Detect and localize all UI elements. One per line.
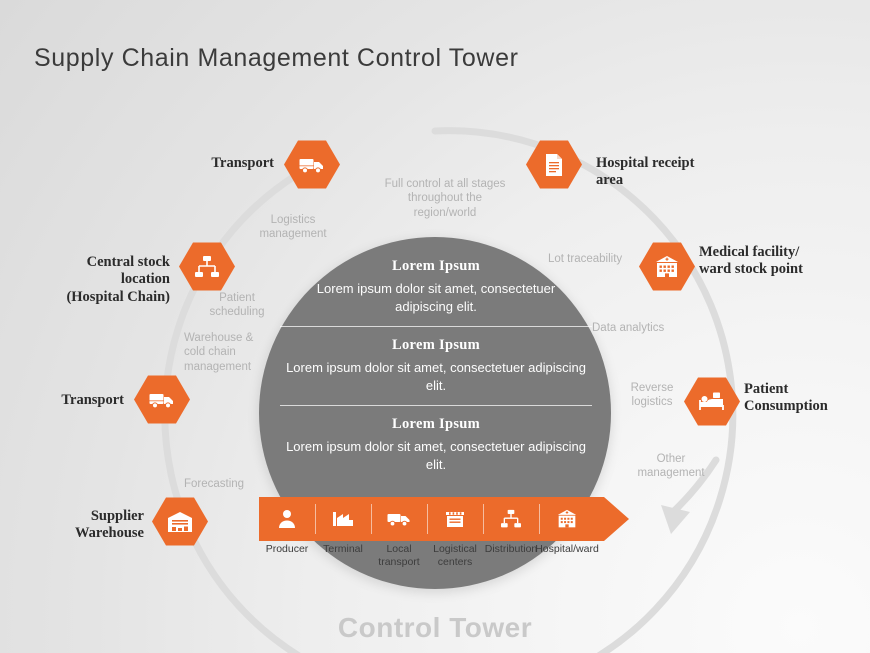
arc-caption-logistics-management: Logistics management <box>238 213 348 242</box>
center-block-1: Lorem Ipsum Lorem ipsum dolor sit amet, … <box>268 258 604 315</box>
hierarchy-icon <box>500 509 522 529</box>
center-block-1-body: Lorem ipsum dolor sit amet, consectetuer… <box>272 280 600 315</box>
truck-icon <box>149 390 175 410</box>
delivery-van-icon <box>387 510 411 528</box>
flow-step-local-transport[interactable] <box>371 497 427 541</box>
node-label-supplier-warehouse: Supplier Warehouse <box>26 508 144 543</box>
node-label-transport-top: Transport <box>150 155 274 172</box>
hospital-building-icon <box>654 255 680 279</box>
document-icon <box>544 153 564 177</box>
patient-bed-icon <box>699 392 725 412</box>
center-block-2-body: Lorem ipsum dolor sit amet, consectetuer… <box>272 359 600 394</box>
arc-caption-data-analytics: Data analytics <box>592 321 702 335</box>
center-block-2: Lorem Ipsum Lorem ipsum dolor sit amet, … <box>268 337 604 394</box>
arc-caption-patient-scheduling: Patient scheduling <box>196 291 278 320</box>
center-block-2-heading: Lorem Ipsum <box>272 337 600 354</box>
warehouse-icon <box>167 511 193 533</box>
arc-caption-other-management: Other management <box>633 452 709 481</box>
flow-step-logistical-centers[interactable] <box>427 497 483 541</box>
truck-icon <box>299 155 325 175</box>
person-icon <box>277 509 297 529</box>
center-divider-1 <box>280 326 592 327</box>
flow-step-terminal[interactable] <box>315 497 371 541</box>
flow-step-distribution[interactable] <box>483 497 539 541</box>
center-divider-2 <box>280 405 592 406</box>
flow-label-hospital-ward: Hospital/ward <box>527 543 607 556</box>
center-block-3: Lorem Ipsum Lorem ipsum dolor sit amet, … <box>268 416 604 473</box>
flow-bar-arrow <box>259 497 629 541</box>
center-block-3-heading: Lorem Ipsum <box>272 416 600 433</box>
node-label-patient-consumption: Patient Consumption <box>744 381 870 416</box>
bottom-title: Control Tower <box>0 612 870 644</box>
node-label-medical-facility: Medical facility/ ward stock point <box>699 244 870 279</box>
arc-caption-forecasting: Forecasting <box>184 477 284 491</box>
flow-step-producer[interactable] <box>259 497 315 541</box>
flow-step-hospital-ward[interactable] <box>539 497 595 541</box>
center-text-stack: Lorem Ipsum Lorem ipsum dolor sit amet, … <box>268 258 604 473</box>
node-label-transport-bottom: Transport <box>10 392 124 409</box>
hospital-building-icon <box>556 509 578 529</box>
hierarchy-icon <box>194 255 220 279</box>
slide-canvas: Supply Chain Management Control Tower Lo… <box>0 0 870 653</box>
arc-caption-full-control: Full control at all stages throughout th… <box>358 177 532 220</box>
store-icon <box>445 509 465 529</box>
node-label-central-stock: Central stock location (Hospital Chain) <box>20 254 170 306</box>
arc-caption-warehouse-cold-chain: Warehouse & cold chain management <box>184 331 280 374</box>
center-block-3-body: Lorem ipsum dolor sit amet, consectetuer… <box>272 438 600 473</box>
node-label-hospital-receipt: Hospital receipt area <box>596 155 776 190</box>
arc-caption-reverse-logistics: Reverse logistics <box>617 381 687 410</box>
factory-icon <box>332 510 354 528</box>
supply-flow-bar: Producer Terminal Local transport Logist… <box>259 497 629 541</box>
